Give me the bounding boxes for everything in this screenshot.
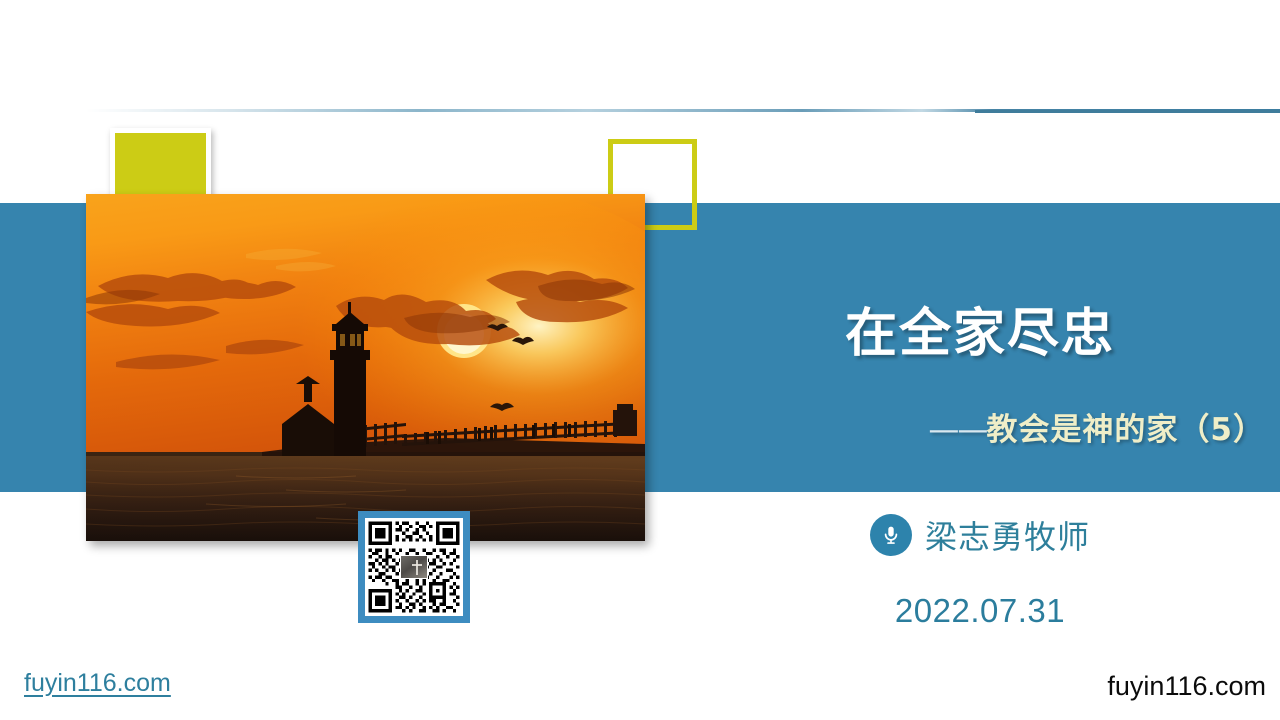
subtitle-dash: ——	[928, 412, 986, 448]
presentation-slide: 在全家尽忠 ——教会是神的家（5） 梁志勇牧师 2022.07.31 fuyin…	[0, 0, 1280, 720]
microphone-icon	[870, 514, 912, 556]
speaker-row: 梁志勇牧师	[700, 512, 1260, 558]
footer-website-watermark: fuyin116.com	[1107, 671, 1266, 702]
footer-website-link[interactable]: fuyin116.com	[24, 669, 171, 698]
speaker-name: 梁志勇牧师	[925, 512, 1090, 558]
qr-code[interactable]	[358, 511, 470, 623]
presentation-date: 2022.07.31	[700, 592, 1260, 630]
subtitle-text: 教会是神的家（5）	[986, 412, 1265, 448]
qr-center-logo	[400, 555, 428, 579]
lighthouse-sunset-photo	[86, 194, 645, 541]
top-divider-line-right	[975, 110, 1280, 113]
page-title: 在全家尽忠	[700, 305, 1260, 363]
page-subtitle: ——教会是神的家（5）	[640, 404, 1265, 449]
qr-code-matrix	[365, 518, 463, 616]
